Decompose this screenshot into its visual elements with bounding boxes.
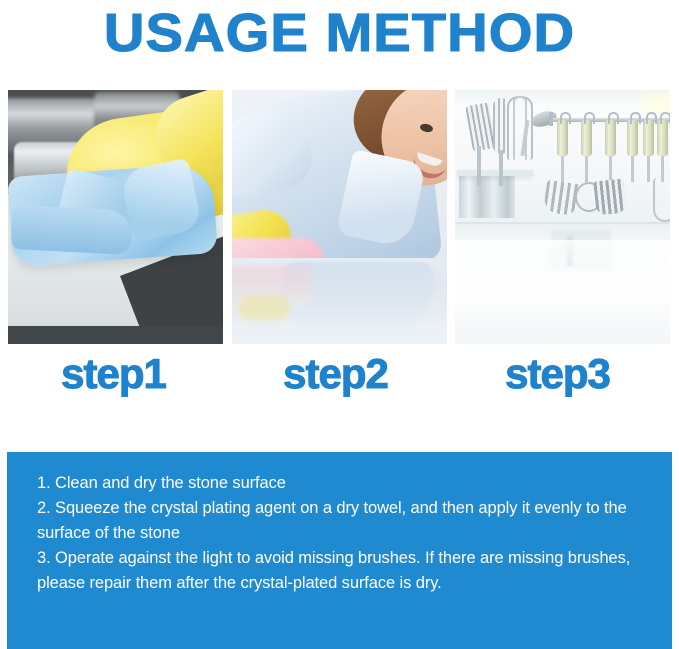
hanging-utensil: [557, 120, 568, 182]
utensil-neck: [585, 156, 588, 182]
utensil-neck: [561, 156, 564, 182]
surface-reflection: [238, 296, 290, 320]
utensil-stem: [477, 146, 481, 186]
glossy-white-kitchen-photo: [455, 90, 670, 344]
hanging-utensil: [643, 120, 654, 182]
instruction-line-2: 2. Squeeze the crystal plating agent on …: [37, 496, 644, 546]
instruction-line-3: 3. Operate against the light to avoid mi…: [37, 546, 644, 596]
utensil-neck: [647, 156, 650, 182]
step-label-1: step1: [6, 350, 221, 398]
rail-bracket: [549, 112, 553, 126]
utensil-stem: [499, 150, 503, 186]
utensil-handle: [581, 120, 592, 156]
wall-shelf: [457, 170, 533, 176]
utensil-handle: [643, 120, 654, 156]
ceiling-light-icon: [645, 98, 670, 107]
hanging-utensil: [627, 120, 638, 182]
utensil-handle: [557, 120, 568, 156]
step-label-2: step2: [228, 350, 443, 398]
utensil-neck: [609, 156, 612, 182]
step-label-3: step3: [450, 350, 665, 398]
gloved-hand-wiping-countertop-photo: [8, 90, 223, 344]
cloth-fold: [11, 205, 133, 255]
hook-icon: [646, 112, 657, 124]
whisk-icon: [653, 178, 670, 222]
hook-icon: [630, 112, 641, 124]
usage-method-infographic: USAGE METHOD: [0, 0, 679, 649]
woman-inspecting-polished-surface-photo: [232, 90, 447, 344]
hanging-utensil: [581, 120, 592, 182]
turner-icon: [593, 179, 626, 216]
counter-edge-shadow: [8, 326, 223, 344]
counter-edge-line: [455, 222, 670, 224]
hook-icon: [660, 112, 670, 124]
utensil-handle: [657, 120, 668, 156]
step-label-row: step1 step2 step3: [0, 350, 679, 404]
instruction-line-1: 1. Clean and dry the stone surface: [37, 471, 644, 496]
step-photo-row: [8, 90, 672, 344]
hook-icon: [560, 112, 571, 124]
utensil-handle: [605, 120, 616, 156]
utensil-holder: [459, 176, 515, 218]
utensil-neck: [631, 156, 634, 182]
hanging-utensil: [605, 120, 616, 182]
hanging-utensil: [657, 120, 668, 182]
utensil-handle: [627, 120, 638, 156]
hook-icon: [608, 112, 619, 124]
hook-icon: [584, 112, 595, 124]
page-title: USAGE METHOD: [0, 2, 679, 64]
instructions-panel: 1. Clean and dry the stone surface 2. Sq…: [7, 452, 672, 649]
counter-gloss-highlight: [455, 240, 670, 280]
